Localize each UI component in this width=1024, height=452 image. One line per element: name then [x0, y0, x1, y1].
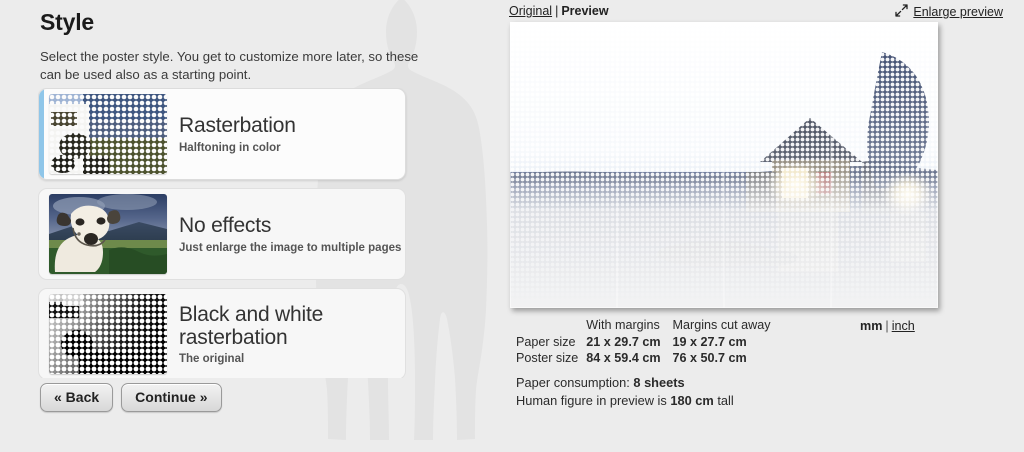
style-card-subtitle: Just enlarge the image to multiple pages — [179, 242, 401, 254]
poster-preview-image[interactable] — [510, 22, 938, 308]
poster-size-with-margins: 84 x 59.4 cm — [586, 351, 672, 367]
paper-consumption-value: 8 sheets — [633, 375, 684, 390]
continue-button[interactable]: Continue » — [121, 383, 221, 412]
style-card-text: Rasterbation Halftoning in color — [179, 114, 296, 154]
back-button[interactable]: « Back — [40, 383, 113, 412]
style-card-text: No effects Just enlarge the image to mul… — [179, 214, 401, 254]
enlarge-preview-label[interactable]: Enlarge preview — [913, 5, 1003, 19]
col-header-margins-cut-away: Margins cut away — [673, 318, 783, 335]
paper-consumption-line: Paper consumption: 8 sheets — [516, 374, 734, 392]
style-card-text: Black and white rasterbation The origina… — [179, 303, 405, 365]
style-card-subtitle: The original — [179, 353, 405, 365]
size-table: With margins Margins cut away Paper size… — [516, 318, 783, 367]
unit-switch: mm|inch — [860, 319, 915, 333]
preview-toolbar: Original|Preview Enlarge preview — [509, 4, 1015, 21]
style-card-title: Rasterbation — [179, 114, 296, 138]
unit-separator: | — [885, 319, 888, 333]
size-table-wrapper: With margins Margins cut away Paper size… — [516, 318, 783, 367]
unit-inch[interactable]: inch — [892, 319, 915, 333]
preview-mode-switch: Original|Preview — [509, 4, 609, 18]
style-card-no-effects[interactable]: No effects Just enlarge the image to mul… — [38, 188, 406, 280]
row-label-poster-size: Poster size — [516, 351, 586, 367]
enlarge-preview-link[interactable]: Enlarge preview — [895, 4, 1003, 20]
panel-description: Select the poster style. You get to cust… — [40, 48, 430, 84]
tab-separator: | — [555, 4, 558, 18]
expand-arrows-icon — [895, 4, 908, 20]
style-card-title: No effects — [179, 214, 401, 238]
bw-halftone-thumbnail — [49, 294, 167, 374]
human-figure-line: Human figure in preview is 180 cm tall — [516, 392, 734, 410]
style-list-scrollbar[interactable] — [416, 90, 426, 380]
poster-size-cut-away: 76 x 50.7 cm — [673, 351, 783, 367]
color-halftone-thumbnail — [49, 94, 167, 174]
table-row: Poster size 84 x 59.4 cm 76 x 50.7 cm — [516, 351, 783, 367]
tab-preview: Preview — [561, 4, 608, 18]
human-figure-value: 180 cm — [670, 393, 713, 408]
paper-consumption-label: Paper consumption: — [516, 375, 630, 390]
style-panel: Style Select the poster style. You get t… — [0, 0, 470, 440]
row-label-paper-size: Paper size — [516, 335, 586, 351]
col-header-with-margins: With margins — [586, 318, 672, 335]
cow-photo-thumbnail — [49, 194, 167, 274]
unit-mm: mm — [860, 319, 882, 333]
human-figure-prefix: Human figure in preview is — [516, 393, 667, 408]
wizard-buttons: « Back Continue » — [40, 383, 222, 412]
style-card-title: Black and white rasterbation — [179, 303, 405, 349]
table-header-row: With margins Margins cut away — [516, 318, 783, 335]
human-figure-suffix: tall — [717, 393, 733, 408]
preview-panel: Original|Preview Enlarge preview — [500, 0, 1024, 440]
style-card-list: Rasterbation Halftoning in color — [38, 88, 408, 378]
tab-original[interactable]: Original — [509, 4, 552, 18]
style-card-black-and-white-rasterbation[interactable]: Black and white rasterbation The origina… — [38, 288, 406, 378]
consumption-info: Paper consumption: 8 sheets Human figure… — [516, 374, 734, 410]
paper-size-with-margins: 21 x 29.7 cm — [586, 335, 672, 351]
paper-size-cut-away: 19 x 27.7 cm — [673, 335, 783, 351]
style-card-rasterbation[interactable]: Rasterbation Halftoning in color — [38, 88, 406, 180]
col-header-blank — [516, 318, 586, 335]
page-title: Style — [40, 9, 94, 36]
table-row: Paper size 21 x 29.7 cm 19 x 27.7 cm — [516, 335, 783, 351]
style-card-subtitle: Halftoning in color — [179, 142, 296, 154]
